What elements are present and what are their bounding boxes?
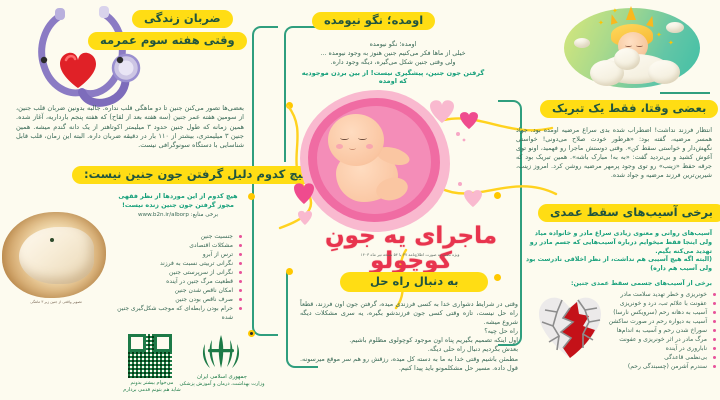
list-item: نگرانی تربیتی نسبت به فرزند: [112, 259, 242, 268]
iran-emblem-icon: [198, 332, 244, 372]
infographic-poster: ضربان زندگی وقتی هفته سوم عمرمه بعضی‌ها …: [0, 0, 720, 400]
poster-subtitle: ویژه نصب به صورت اطلاع‌نامه ۳۷ یا ۵۴ نسخ…: [300, 252, 520, 257]
ministry-line2: وزارت بهداشت، درمان و آموزش پزشکی: [176, 381, 268, 388]
list-item: صرف ناقص بودن جنین: [112, 295, 242, 304]
harms-body-line1: آسیب‌های روانی و معنوی زیادی سراغ مادر و…: [518, 230, 712, 239]
list-item: ناباروری در آینده: [540, 344, 716, 353]
harms-subheading: برخی از آسیب‌های جسمی سقط عمدی جنین:: [518, 280, 712, 287]
embryo-photo-caption: تصویر واقعی از جنین زیر ۳ ماهگی: [0, 300, 112, 304]
node-dot-center-lower: [286, 268, 293, 275]
arrived-highlight: گرفتن جون جنین، پیشگیری نیست! از بین برد…: [300, 69, 486, 85]
sparkle-icon: ✦: [612, 8, 618, 15]
qr-caption-line2: شاید هم بتونم قدمی بردارم: [108, 387, 196, 394]
heartbeat-body: بعضی‌ها تصور می‌کنن جنین تا دو ماهگی قلب…: [16, 104, 244, 151]
no-reason-source-url[interactable]: www.b2n.ir/alborp: [138, 212, 189, 218]
no-reason-list: جنسیت جنین مشکلات اقتصادی ترس از آبرو نگ…: [112, 232, 242, 322]
harms-body-line2: ولی اینجا فقط میخوایم درباره آسیب‌هایی ک…: [518, 239, 712, 257]
solution-body-line2: راه حل چیه؟: [300, 327, 518, 336]
ministry-caption: جمهوری اسلامی ایران وزارت بهداشت، درمان …: [176, 374, 268, 388]
sparkle-icon: ✦: [668, 40, 674, 47]
solution-body-line4: بعدش بگردیم دنبال راه حلی دیگه.: [300, 345, 518, 354]
solution-body: وقتی در شرایط دشواری خدا به کسی فرزندی م…: [300, 300, 518, 373]
arrived-heading: اومده؛ نگو نیومده: [312, 12, 435, 30]
no-reason-source: برخی منابع: www.b2n.ir/alborp: [108, 212, 248, 218]
list-item: جنسیت جنین: [112, 232, 242, 241]
heart-decoration-group: [420, 94, 490, 224]
solution-body-line1: وقتی در شرایط دشواری خدا به کسی فرزندی م…: [300, 300, 518, 327]
arrived-body-line1: اومده؛ نگو نیومده: [300, 40, 486, 49]
list-item: ترس از آبرو: [112, 250, 242, 259]
list-item: سندرم آشرمن (چسبندگی رحم): [540, 362, 716, 371]
list-item: خونریزی و خطر تهدید سلامت مادر: [540, 290, 716, 299]
harms-body-line3: (البته اگه هیچ آسیبی هم نداشت، از نظر اخ…: [518, 256, 712, 274]
qr-code-icon[interactable]: [128, 334, 172, 378]
list-item: امکان ناقص شدن جنین: [112, 286, 242, 295]
sparkle-icon: ✦: [598, 20, 604, 27]
congrats-body: انتظار فرزند نداشت! اضطراب شده بدی سراغ …: [516, 126, 712, 181]
page-title: ماجرای یه جونِ کوچولو: [296, 224, 526, 275]
list-item: بی‌نظمی قاعدگی: [540, 353, 716, 362]
rail-left-bottom: [252, 196, 278, 336]
no-reason-intro: هیچ کدوم از این موردها از نظر فقهی مجوز …: [108, 192, 248, 218]
harms-body: آسیب‌های روانی و معنوی زیادی سراغ مادر و…: [518, 230, 712, 274]
arrived-body-line2: خیلی از ماها فکر می‌کنیم جنین هنوز به وج…: [300, 49, 486, 58]
arrived-body: اومده؛ نگو نیومده خیلی از ماها فکر می‌کن…: [300, 40, 486, 85]
no-reason-source-label: برخی منابع:: [191, 212, 218, 218]
solution-body-line5: مطمئن باشیم وقتی خدا به ما به دسته کل می…: [300, 355, 518, 373]
no-reason-intro-line1: هیچ کدوم از این موردها از نظر فقهی: [108, 192, 248, 201]
list-item: سوراخ شدن رحم و آسیب به اندام‌ها: [540, 326, 716, 335]
arrived-body-line3: ولی وقتی جنین شکل می‌گیره، دیگه وجود دار…: [300, 58, 486, 67]
node-dot-left: [248, 193, 255, 200]
embryo-photo: [2, 212, 106, 298]
no-reason-intro-line2: مجوز گرفتن جون جنین زنده نیست!: [108, 201, 248, 210]
list-item: آسیب به دهانه رحم (سرویکس نارسا): [540, 308, 716, 317]
congrats-heading: بعضی وقتا، فقط یک تبریک: [540, 100, 718, 118]
poster-title-text: ماجرای یه جونِ کوچولو: [296, 224, 526, 275]
list-item: قطعیت مرگ جنین در آینده: [112, 277, 242, 286]
solution-body-line3: اول اینکه تصمیم بگیریم پناه اون موجود کو…: [300, 336, 518, 345]
sleeping-baby-cloud-icon: ✦ ✦ ✦ ✦: [556, 2, 706, 94]
list-item: عفونت با علائم تب، درد و خونریزی: [540, 299, 716, 308]
solution-heading: به دنبال راه حل: [340, 272, 488, 292]
node-dot-right-lower: [494, 274, 501, 281]
list-item: حرام بودن رابطه‌ای که موجب شکل‌گیری جنین…: [112, 304, 242, 322]
ministry-line1: جمهوری اسلامی ایران: [176, 374, 268, 381]
heartbeat-heading-line1: ضربان زندگی: [132, 10, 233, 28]
no-reason-heading: هیچ کدوم دلیل گرفتن جون جنین نیست:: [72, 166, 322, 184]
sparkle-icon: ✦: [656, 32, 662, 39]
harms-heading: برخی آسیب‌های سقط عمدی: [538, 204, 720, 222]
heartbeat-heading-line2: وقتی هفته سوم عمرمه: [88, 32, 247, 50]
list-item: آسیب به دیواره رحم در صورت ساکشن: [540, 317, 716, 326]
harms-list: خونریزی و خطر تهدید سلامت مادر عفونت با …: [540, 290, 716, 371]
list-item: مشکلات اقتصادی: [112, 241, 242, 250]
list-item: مرگ مادر در اثر خونریزی و عفونت: [540, 335, 716, 344]
list-item: نگرانی از سرپرستی جنین: [112, 268, 242, 277]
node-dot-left-lower: [248, 330, 255, 337]
